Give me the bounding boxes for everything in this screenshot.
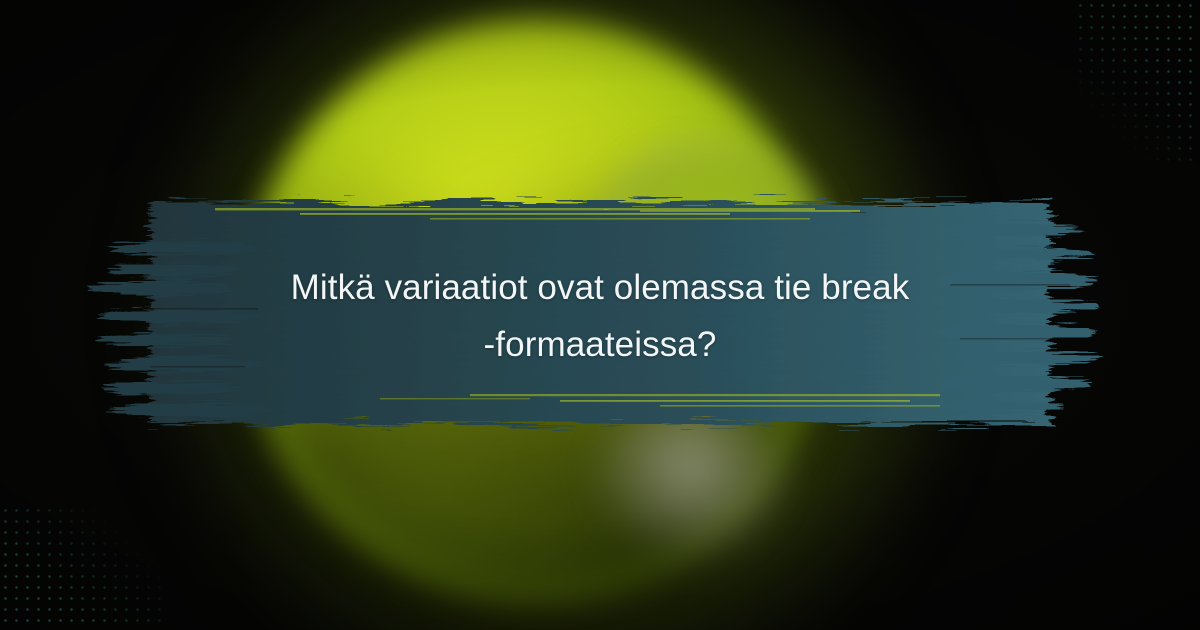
headline-line-1: Mitkä variaatiot ovat olemassa tie break — [291, 260, 910, 317]
dot-grid-bottom-left-decoration — [0, 505, 165, 630]
headline-text-block: Mitkä variaatiot ovat olemassa tie break… — [200, 188, 1000, 438]
dot-grid-top-right-decoration — [1075, 0, 1200, 165]
headline-banner: Mitkä variaatiot ovat olemassa tie break… — [0, 188, 1200, 438]
headline-line-2: -formaateissa? — [484, 317, 717, 374]
screenshot-canvas: Mitkä variaatiot ovat olemassa tie break… — [0, 0, 1200, 630]
